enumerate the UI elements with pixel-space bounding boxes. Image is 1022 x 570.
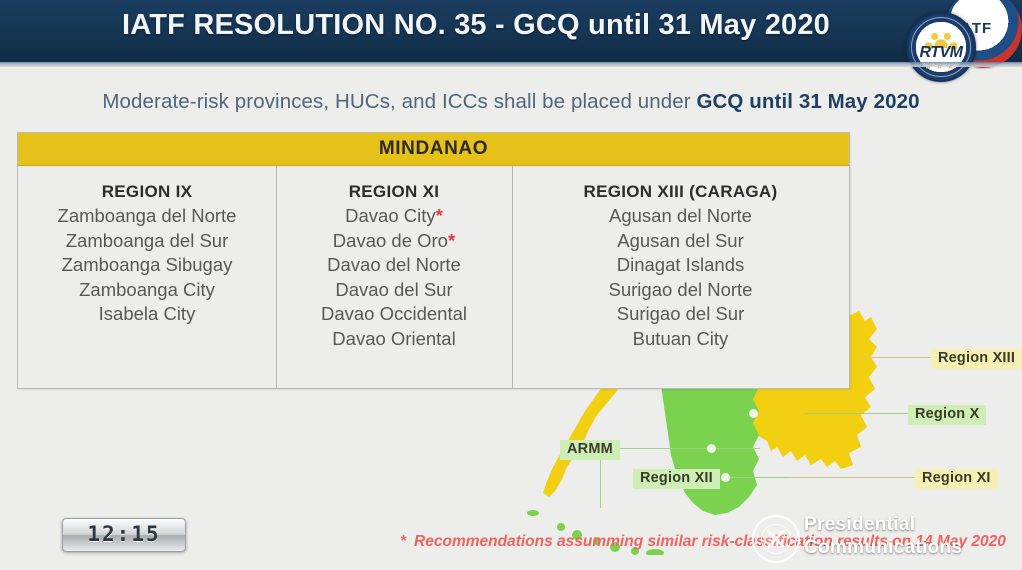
map-label-region-xi: Region XI	[915, 469, 998, 489]
footnote-marker: *	[400, 533, 406, 550]
table-column-region-ix: REGION IX Zamboanga del Norte Zamboanga …	[18, 166, 276, 388]
map-label-region-x: Region X	[908, 405, 986, 425]
leader-armm	[600, 448, 760, 449]
table-row: Davao City*	[276, 204, 512, 229]
table-row: Davao de Oro*	[276, 229, 512, 254]
map-dot-region-xii	[721, 473, 730, 482]
table-row: Zamboanga del Sur	[18, 229, 276, 254]
asterisk-marker: *	[436, 205, 443, 226]
table-row: Surigao del Sur	[512, 302, 849, 327]
table-row: Zamboanga City	[18, 278, 276, 303]
leader-region-xi	[790, 477, 920, 478]
column-heading: REGION IX	[18, 182, 276, 202]
rtvm-logo: RTVM ★★★	[906, 12, 976, 82]
table-row: Butuan City	[512, 327, 849, 352]
rtvm-logo-label: RTVM	[908, 44, 974, 62]
map-label-armm: ARMM	[560, 440, 620, 460]
asterisk-marker: *	[448, 230, 455, 251]
presidential-communications-watermark: Presidential Communications	[752, 512, 1012, 564]
map-label-region-xiii: Region XIII	[931, 349, 1022, 369]
region-table: MINDANAO REGION IX Zamboanga del Norte Z…	[17, 132, 850, 389]
leader-region-xiii	[860, 357, 940, 358]
table-row: Surigao del Norte	[512, 278, 849, 303]
table-row: Zamboanga del Norte	[18, 204, 276, 229]
map-davao-gulf	[765, 461, 785, 513]
watermark-line-1: Presidential	[804, 514, 915, 536]
column-heading: REGION XI	[276, 182, 512, 202]
subtitle-lead: Moderate-risk provinces, HUCs, and ICCs …	[102, 90, 696, 113]
table-column-region-xiii: REGION XIII (CARAGA) Agusan del Norte Ag…	[512, 166, 849, 388]
table-row: Zamboanga Sibugay	[18, 253, 276, 278]
broadcast-slide: IATF RESOLUTION NO. 35 - GCQ until 31 Ma…	[0, 0, 1022, 570]
title-band: IATF RESOLUTION NO. 35 - GCQ until 31 Ma…	[0, 0, 1022, 62]
page-title: IATF RESOLUTION NO. 35 - GCQ until 31 Ma…	[0, 9, 1022, 42]
clock-time: 12:15	[63, 519, 185, 550]
table-group-header-label: MINDANAO	[18, 133, 849, 165]
table-group-header: MINDANAO	[18, 133, 849, 166]
seal-icon	[752, 515, 800, 563]
table-cell-label: Davao City	[345, 205, 435, 226]
on-screen-clock: 12:15	[62, 518, 186, 552]
stars-icon: ★★★	[908, 61, 974, 72]
table-row: Dinagat Islands	[512, 253, 849, 278]
table-row: Davao del Norte	[276, 253, 512, 278]
watermark-line-2: Communications	[804, 537, 962, 559]
leader-region-x	[805, 413, 910, 414]
table-column-region-xi: REGION XI Davao City* Davao de Oro* Dava…	[276, 166, 512, 388]
table-row: Agusan del Norte	[512, 204, 849, 229]
table-row: Davao Occidental	[276, 302, 512, 327]
subtitle: Moderate-risk provinces, HUCs, and ICCs …	[0, 90, 1022, 114]
map-label-region-xii: Region XII	[633, 469, 720, 489]
table-row: Davao Oriental	[276, 327, 512, 352]
table-body: REGION IX Zamboanga del Norte Zamboanga …	[18, 166, 849, 388]
map-dot-region-x	[749, 409, 758, 418]
table-row: Isabela City	[18, 302, 276, 327]
column-heading: REGION XIII (CARAGA)	[512, 182, 849, 202]
subtitle-emphasis: GCQ until 31 May 2020	[696, 90, 919, 113]
table-row: Agusan del Sur	[512, 229, 849, 254]
table-cell-label: Davao de Oro	[333, 230, 448, 251]
map-dot-armm	[707, 444, 716, 453]
table-row: Davao del Sur	[276, 278, 512, 303]
